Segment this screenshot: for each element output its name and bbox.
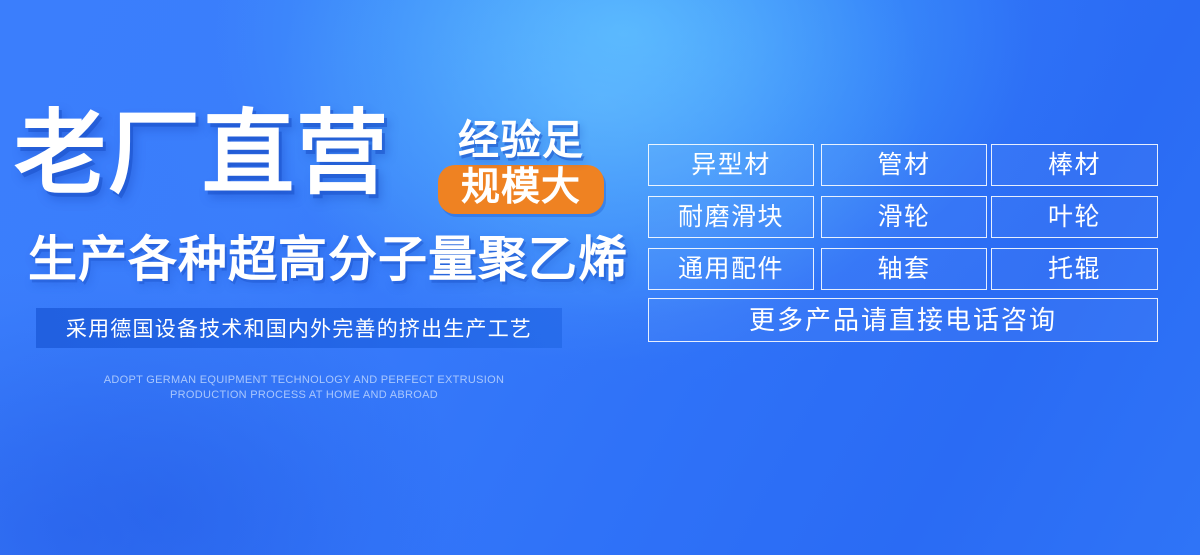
- product-cell-yelun[interactable]: 叶轮: [991, 196, 1158, 238]
- product-cell-zhoutao[interactable]: 轴套: [821, 248, 987, 290]
- product-cell-naimohuakuai[interactable]: 耐磨滑块: [648, 196, 814, 238]
- tagline-strip: 采用德国设备技术和国内外完善的挤出生产工艺: [36, 308, 562, 348]
- page-title: 老厂直营: [14, 108, 390, 200]
- product-label: 轴套: [877, 257, 930, 282]
- product-label: 异型材: [691, 153, 771, 178]
- product-cell-tuogun[interactable]: 托辊: [991, 248, 1158, 290]
- product-cell-bangcai[interactable]: 棒材: [991, 144, 1158, 186]
- badge-scale-pill: 规模大: [438, 165, 604, 214]
- tagline-text: 采用德国设备技术和国内外完善的挤出生产工艺: [66, 313, 532, 343]
- more-products-button[interactable]: 更多产品请直接电话咨询: [648, 298, 1158, 342]
- product-grid: 异型材 管材 棒材 耐磨滑块 滑轮 叶轮 通用配件 轴套 托辊 更多产品请直接电…: [648, 144, 1158, 342]
- promo-banner: 老厂直营 经验足 规模大 生产各种超高分子量聚乙烯 采用德国设备技术和国内外完善…: [0, 0, 1200, 555]
- headline-row: 老厂直营 经验足 规模大: [14, 112, 614, 222]
- product-cell-guancai[interactable]: 管材: [821, 144, 987, 186]
- subtitle: 生产各种超高分子量聚乙烯: [28, 236, 628, 285]
- more-products-label: 更多产品请直接电话咨询: [749, 307, 1057, 333]
- badge-experience: 经验足: [438, 120, 604, 162]
- english-subtitle-line1: ADOPT GERMAN EQUIPMENT TECHNOLOGY AND PE…: [0, 373, 608, 388]
- product-cell-tongyongpeijian[interactable]: 通用配件: [648, 248, 814, 290]
- product-label: 管材: [877, 153, 930, 178]
- product-cell-yixingcai[interactable]: 异型材: [648, 144, 814, 186]
- product-cell-hualun[interactable]: 滑轮: [821, 196, 987, 238]
- product-label: 通用配件: [678, 257, 784, 282]
- english-subtitle: ADOPT GERMAN EQUIPMENT TECHNOLOGY AND PE…: [0, 373, 608, 403]
- badge-stack: 经验足 规模大: [438, 120, 604, 214]
- product-label: 叶轮: [1048, 205, 1101, 230]
- product-label: 棒材: [1048, 153, 1101, 178]
- product-label: 滑轮: [877, 205, 930, 230]
- product-label: 耐磨滑块: [678, 205, 784, 230]
- badge-scale-label: 规模大: [461, 168, 581, 209]
- product-label: 托辊: [1048, 257, 1101, 282]
- headline-panel: 老厂直营 经验足 规模大 生产各种超高分子量聚乙烯 采用德国设备技术和国内外完善…: [0, 0, 620, 555]
- english-subtitle-line2: PRODUCTION PROCESS AT HOME AND ABROAD: [0, 388, 608, 403]
